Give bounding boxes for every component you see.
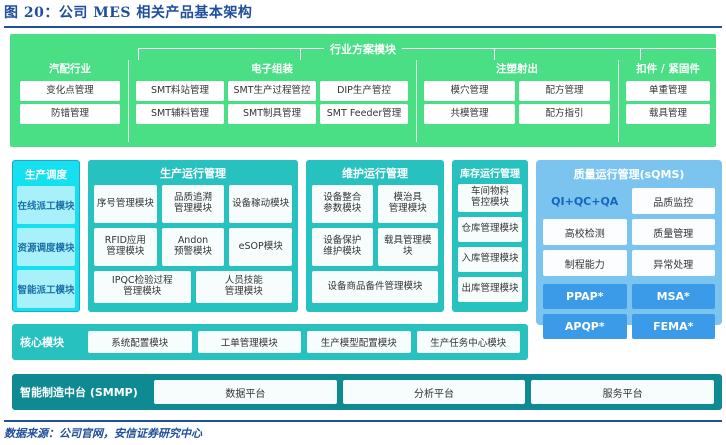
smmp-platform-cell[interactable]: 分析平台 bbox=[343, 380, 526, 404]
maintenance-cell[interactable]: 模治具管理模块 bbox=[378, 185, 439, 223]
industry-chip[interactable]: 变化点管理 bbox=[20, 81, 120, 101]
industry-band-title: 行业方案模块 bbox=[10, 41, 716, 57]
figure-title-bar: 图 20：公司 MES 相关产品基本架构 bbox=[4, 4, 722, 28]
industry-head-fasteners: 扣件 / 紧固件 bbox=[626, 60, 710, 78]
industry-row-1: 单重管理 bbox=[626, 81, 710, 101]
diagram-canvas: 行业方案模块 汽配行业 变化点管理 防错管理 电子组装 SMT料站管理 bbox=[4, 32, 722, 416]
quality-cell[interactable]: 高校检测 bbox=[543, 219, 627, 245]
production-cell[interactable]: eSOP模块 bbox=[229, 228, 292, 266]
industry-row-2: 共模管理 配方指引 bbox=[424, 104, 610, 124]
maintenance-cell[interactable]: 设备商品备件管理模块 bbox=[312, 271, 438, 303]
industry-head-electronics: 电子组装 bbox=[136, 60, 408, 78]
maintenance-cell[interactable]: 设备整合参数模块 bbox=[312, 185, 373, 223]
quality-row-2: 高校检测 质量管理 bbox=[543, 219, 715, 245]
industry-chip[interactable]: DIP生产管控 bbox=[320, 81, 408, 101]
industry-row-2: 防错管理 bbox=[20, 104, 120, 124]
industry-row-2: SMT辅料管理 SMT制具管理 SMT Feeder管理 bbox=[136, 104, 408, 124]
industry-chip[interactable]: 配方管理 bbox=[519, 81, 610, 101]
inventory-row-4: 出库管理模块 bbox=[458, 277, 522, 302]
panel-inventory-operation: 库存运行管理 车间物料管控模块 仓库管理模块 入库管理模块 出库管理模块 bbox=[452, 160, 528, 312]
industry-chip[interactable]: 单重管理 bbox=[626, 81, 710, 101]
dispatch-item[interactable]: 资源调度模块 bbox=[17, 228, 75, 266]
industry-row-1: 变化点管理 bbox=[20, 81, 120, 101]
industry-chip[interactable]: 模穴管理 bbox=[424, 81, 515, 101]
production-cell[interactable]: 品质追溯管理模块 bbox=[162, 185, 225, 223]
quality-row-4: PPAP* MSA* bbox=[543, 284, 715, 309]
smmp-platform-bar: 智能制造中台 (SMMP) 数据平台 分析平台 服务平台 bbox=[12, 374, 722, 410]
industry-row-1: SMT料站管理 SMT生产过程管控 DIP生产管控 bbox=[136, 81, 408, 101]
industry-row-1: 模穴管理 配方管理 bbox=[424, 81, 610, 101]
inventory-cell[interactable]: 车间物料管控模块 bbox=[458, 184, 522, 212]
industry-chip[interactable]: 载具管理 bbox=[626, 104, 710, 124]
panel-production-dispatch: 生产调度 在线派工模块 资源调度模块 智能派工模块 bbox=[12, 160, 80, 312]
quality-row-1: QI+QC+QA 品质监控 bbox=[543, 188, 715, 214]
production-cell[interactable]: 序号管理模块 bbox=[94, 185, 157, 223]
quality-cell[interactable]: QI+QC+QA bbox=[543, 188, 627, 214]
industry-chip[interactable]: 配方指引 bbox=[519, 104, 610, 124]
production-row-3: IPQC检验过程管理模块 人员技能管理模块 bbox=[94, 271, 292, 303]
quality-cell[interactable]: 异常处理 bbox=[632, 250, 716, 276]
data-source-note: 数据来源：公司官网，安信证券研究中心 bbox=[4, 425, 722, 441]
production-cell[interactable]: Andon预警模块 bbox=[162, 228, 225, 266]
panel-production-operation: 生产运行管理 序号管理模块 品质追溯管理模块 设备稼动模块 RFID应用管理模块… bbox=[88, 160, 298, 312]
panel-title-quality: 质量运行管理(sQMS) bbox=[543, 160, 715, 188]
industry-chip[interactable]: SMT料站管理 bbox=[136, 81, 224, 101]
core-modules-label: 核心模块 bbox=[20, 334, 82, 350]
industry-band-title-label: 行业方案模块 bbox=[324, 43, 402, 56]
dispatch-item[interactable]: 智能派工模块 bbox=[17, 270, 75, 308]
production-cell[interactable]: 人员技能管理模块 bbox=[196, 271, 293, 303]
production-cell[interactable]: 设备稼动模块 bbox=[229, 185, 292, 223]
industry-chip[interactable]: SMT辅料管理 bbox=[136, 104, 224, 124]
smmp-label: 智能制造中台 (SMMP) bbox=[20, 384, 148, 400]
inventory-row-1: 车间物料管控模块 bbox=[458, 184, 522, 212]
core-module-cell[interactable]: 系统配置模块 bbox=[88, 331, 192, 353]
core-module-cell[interactable]: 生产任务中心模块 bbox=[417, 331, 521, 353]
quality-cell[interactable]: 制程能力 bbox=[543, 250, 627, 276]
core-module-cell[interactable]: 工单管理模块 bbox=[198, 331, 302, 353]
industry-head-injection: 注塑射出 bbox=[424, 60, 610, 78]
industry-column-fasteners: 扣件 / 紧固件 单重管理 载具管理 bbox=[626, 60, 710, 124]
quality-cell[interactable]: PPAP* bbox=[543, 284, 627, 309]
industry-column-injection: 注塑射出 模穴管理 配方管理 共模管理 配方指引 bbox=[424, 60, 610, 124]
maintenance-row-3: 设备商品备件管理模块 bbox=[312, 271, 438, 303]
maintenance-row-1: 设备整合参数模块 模治具管理模块 bbox=[312, 185, 438, 223]
production-row-1: 序号管理模块 品质追溯管理模块 设备稼动模块 bbox=[94, 185, 292, 223]
production-cell[interactable]: IPQC检验过程管理模块 bbox=[94, 271, 191, 303]
panel-quality-sqms: 质量运行管理(sQMS) QI+QC+QA 品质监控 高校检测 质量管理 制程能… bbox=[536, 160, 722, 325]
production-row-2: RFID应用管理模块 Andon预警模块 eSOP模块 bbox=[94, 228, 292, 266]
industry-chip[interactable]: 防错管理 bbox=[20, 104, 120, 124]
page-title: 图 20：公司 MES 相关产品基本架构 bbox=[4, 4, 252, 23]
production-cell[interactable]: RFID应用管理模块 bbox=[94, 228, 157, 266]
quality-cell[interactable]: FEMA* bbox=[632, 314, 716, 339]
quality-cell[interactable]: APQP* bbox=[543, 314, 627, 339]
maintenance-cell[interactable]: 设备保护维护模块 bbox=[312, 228, 373, 266]
industry-head-auto-parts: 汽配行业 bbox=[20, 60, 120, 78]
industry-solution-band: 行业方案模块 汽配行业 变化点管理 防错管理 电子组装 SMT料站管理 bbox=[10, 34, 716, 147]
panel-title-inventory: 库存运行管理 bbox=[458, 160, 522, 184]
industry-chip[interactable]: SMT制具管理 bbox=[228, 104, 316, 124]
column-divider-1 bbox=[128, 60, 129, 142]
panel-title-maintenance: 维护运行管理 bbox=[312, 160, 438, 185]
panel-maintenance-operation: 维护运行管理 设备整合参数模块 模治具管理模块 设备保护维护模块 载具管理模块 … bbox=[306, 160, 444, 312]
maintenance-cell[interactable]: 载具管理模块 bbox=[378, 228, 439, 266]
industry-column-electronics: 电子组装 SMT料站管理 SMT生产过程管控 DIP生产管控 SMT辅料管理 S… bbox=[136, 60, 408, 124]
dispatch-item[interactable]: 在线派工模块 bbox=[17, 186, 75, 224]
maintenance-row-2: 设备保护维护模块 载具管理模块 bbox=[312, 228, 438, 266]
quality-row-5: APQP* FEMA* bbox=[543, 314, 715, 339]
column-divider-3 bbox=[618, 60, 619, 142]
figure-footer-bar: 数据来源：公司官网，安信证券研究中心 bbox=[4, 420, 722, 442]
panel-title-production: 生产运行管理 bbox=[94, 160, 292, 185]
inventory-cell[interactable]: 仓库管理模块 bbox=[458, 217, 522, 242]
industry-column-auto-parts: 汽配行业 变化点管理 防错管理 bbox=[20, 60, 120, 124]
inventory-row-3: 入库管理模块 bbox=[458, 247, 522, 272]
inventory-row-2: 仓库管理模块 bbox=[458, 217, 522, 242]
inventory-cell[interactable]: 出库管理模块 bbox=[458, 277, 522, 302]
quality-row-3: 制程能力 异常处理 bbox=[543, 250, 715, 276]
industry-chip[interactable]: 共模管理 bbox=[424, 104, 515, 124]
quality-cell[interactable]: MSA* bbox=[632, 284, 716, 309]
industry-chip[interactable]: SMT Feeder管理 bbox=[320, 104, 408, 124]
smmp-platform-cell[interactable]: 数据平台 bbox=[154, 380, 337, 404]
quality-cell[interactable]: 品质监控 bbox=[632, 188, 716, 214]
industry-row-2: 载具管理 bbox=[626, 104, 710, 124]
inventory-cell[interactable]: 入库管理模块 bbox=[458, 247, 522, 272]
smmp-platform-cell[interactable]: 服务平台 bbox=[531, 380, 714, 404]
industry-chip[interactable]: SMT生产过程管控 bbox=[228, 81, 316, 101]
core-modules-bar: 核心模块 系统配置模块 工单管理模块 生产模型配置模块 生产任务中心模块 bbox=[12, 324, 528, 360]
column-divider-2 bbox=[416, 60, 417, 142]
core-module-cell[interactable]: 生产模型配置模块 bbox=[307, 331, 411, 353]
figure-root: 图 20：公司 MES 相关产品基本架构 行业方案模块 汽配行业 变化点管理 bbox=[0, 0, 726, 445]
panel-title-dispatch: 生产调度 bbox=[17, 165, 75, 186]
quality-cell[interactable]: 质量管理 bbox=[632, 219, 716, 245]
